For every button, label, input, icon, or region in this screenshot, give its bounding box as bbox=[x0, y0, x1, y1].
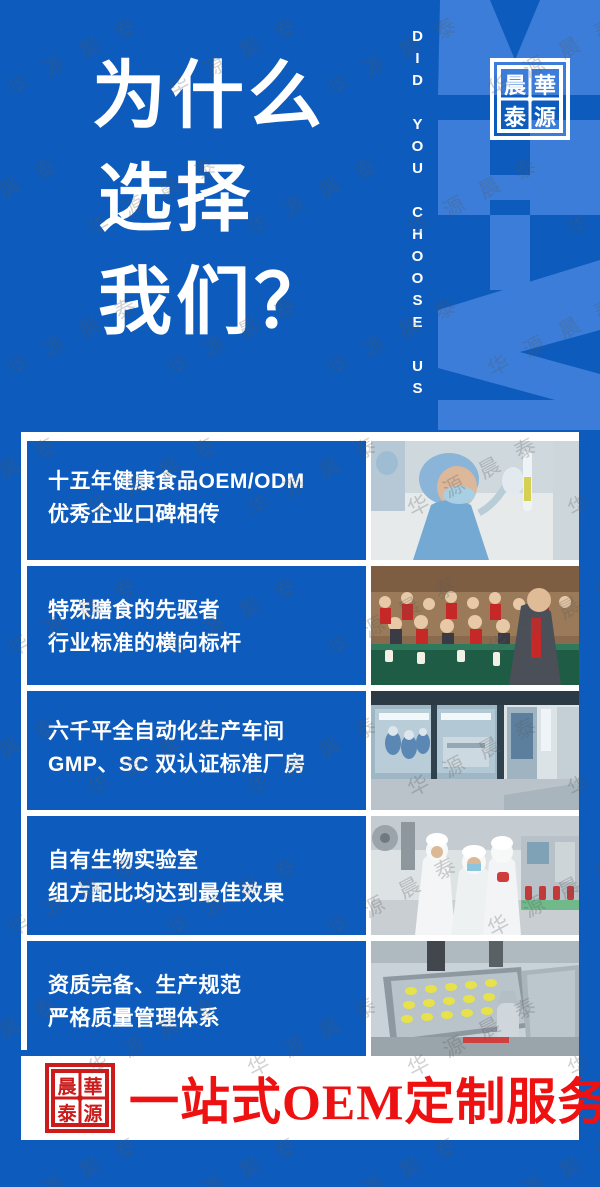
title-line-2: 选择 bbox=[92, 149, 392, 252]
feature-line-1: 六千平全自动化生产车间 bbox=[48, 715, 366, 748]
feature-card-list: 十五年健康食品OEM/ODM 优秀企业口碑相传 bbox=[27, 441, 579, 1066]
title-line-1: 为什么 bbox=[92, 46, 392, 149]
feature-line-2: 优秀企业口碑相传 bbox=[48, 498, 366, 531]
svg-text:晨: 晨 bbox=[504, 73, 527, 98]
svg-text:華: 華 bbox=[534, 73, 556, 98]
svg-text:泰: 泰 bbox=[56, 1102, 77, 1125]
svg-text:源: 源 bbox=[83, 1102, 102, 1125]
feature-line-1: 特殊膳食的先驱者 bbox=[48, 594, 366, 627]
feature-photo-lab-technician bbox=[371, 441, 579, 560]
vertical-tagline: DID YOU CHOOSE US bbox=[396, 20, 426, 410]
feature-photo-cleanroom bbox=[371, 691, 579, 810]
footer-banner: 晨 華 泰 源 一站式OEM定制服务 bbox=[21, 1056, 579, 1140]
feature-card-text: 自有生物实验室 组方配比均达到最佳效果 bbox=[27, 816, 366, 935]
page-title: 为什么 选择 我们？ bbox=[92, 46, 392, 355]
title-line-3: 我们？ bbox=[92, 252, 392, 355]
feature-line-2: 严格质量管理体系 bbox=[48, 1002, 366, 1035]
feature-line-2: 组方配比均达到最佳效果 bbox=[48, 877, 366, 910]
feature-line-1: 资质完备、生产规范 bbox=[48, 969, 366, 1002]
footer-slogan: 一站式OEM定制服务 bbox=[129, 1062, 600, 1134]
company-seal-white: 晨 華 泰 源 bbox=[487, 55, 573, 143]
poster-root: 为什么 选择 我们？ DID YOU CHOOSE US 晨 華 泰 源 bbox=[0, 0, 600, 1187]
feature-line-1: 自有生物实验室 bbox=[48, 844, 366, 877]
svg-text:源: 源 bbox=[534, 105, 556, 130]
feature-card-text: 资质完备、生产规范 严格质量管理体系 bbox=[27, 941, 366, 1060]
svg-text:泰: 泰 bbox=[503, 105, 527, 130]
svg-text:華: 華 bbox=[83, 1075, 102, 1098]
feature-card[interactable]: 六千平全自动化生产车间 GMP、SC 双认证标准厂房 bbox=[27, 691, 579, 810]
feature-line-2: GMP、SC 双认证标准厂房 bbox=[48, 748, 366, 781]
feature-line-2: 行业标准的横向标杆 bbox=[48, 627, 366, 660]
feature-line-1: 十五年健康食品OEM/ODM bbox=[48, 465, 366, 498]
feature-card-text: 十五年健康食品OEM/ODM 优秀企业口碑相传 bbox=[27, 441, 366, 560]
feature-card-text: 六千平全自动化生产车间 GMP、SC 双认证标准厂房 bbox=[27, 691, 366, 810]
feature-card[interactable]: 十五年健康食品OEM/ODM 优秀企业口碑相传 bbox=[27, 441, 579, 560]
svg-text:晨: 晨 bbox=[57, 1076, 77, 1098]
feature-card[interactable]: 资质完备、生产规范 严格质量管理体系 bbox=[27, 941, 579, 1060]
feature-card[interactable]: 特殊膳食的先驱者 行业标准的横向标杆 bbox=[27, 566, 579, 685]
feature-photo-conference bbox=[371, 566, 579, 685]
feature-card[interactable]: 自有生物实验室 组方配比均达到最佳效果 bbox=[27, 816, 579, 935]
poster-header: 为什么 选择 我们？ DID YOU CHOOSE US 晨 華 泰 源 bbox=[0, 0, 600, 432]
feature-card-text: 特殊膳食的先驱者 行业标准的横向标杆 bbox=[27, 566, 366, 685]
feature-photo-production-line bbox=[371, 816, 579, 935]
feature-photo-blister-packing bbox=[371, 941, 579, 1060]
company-seal-red: 晨 華 泰 源 bbox=[43, 1061, 117, 1135]
